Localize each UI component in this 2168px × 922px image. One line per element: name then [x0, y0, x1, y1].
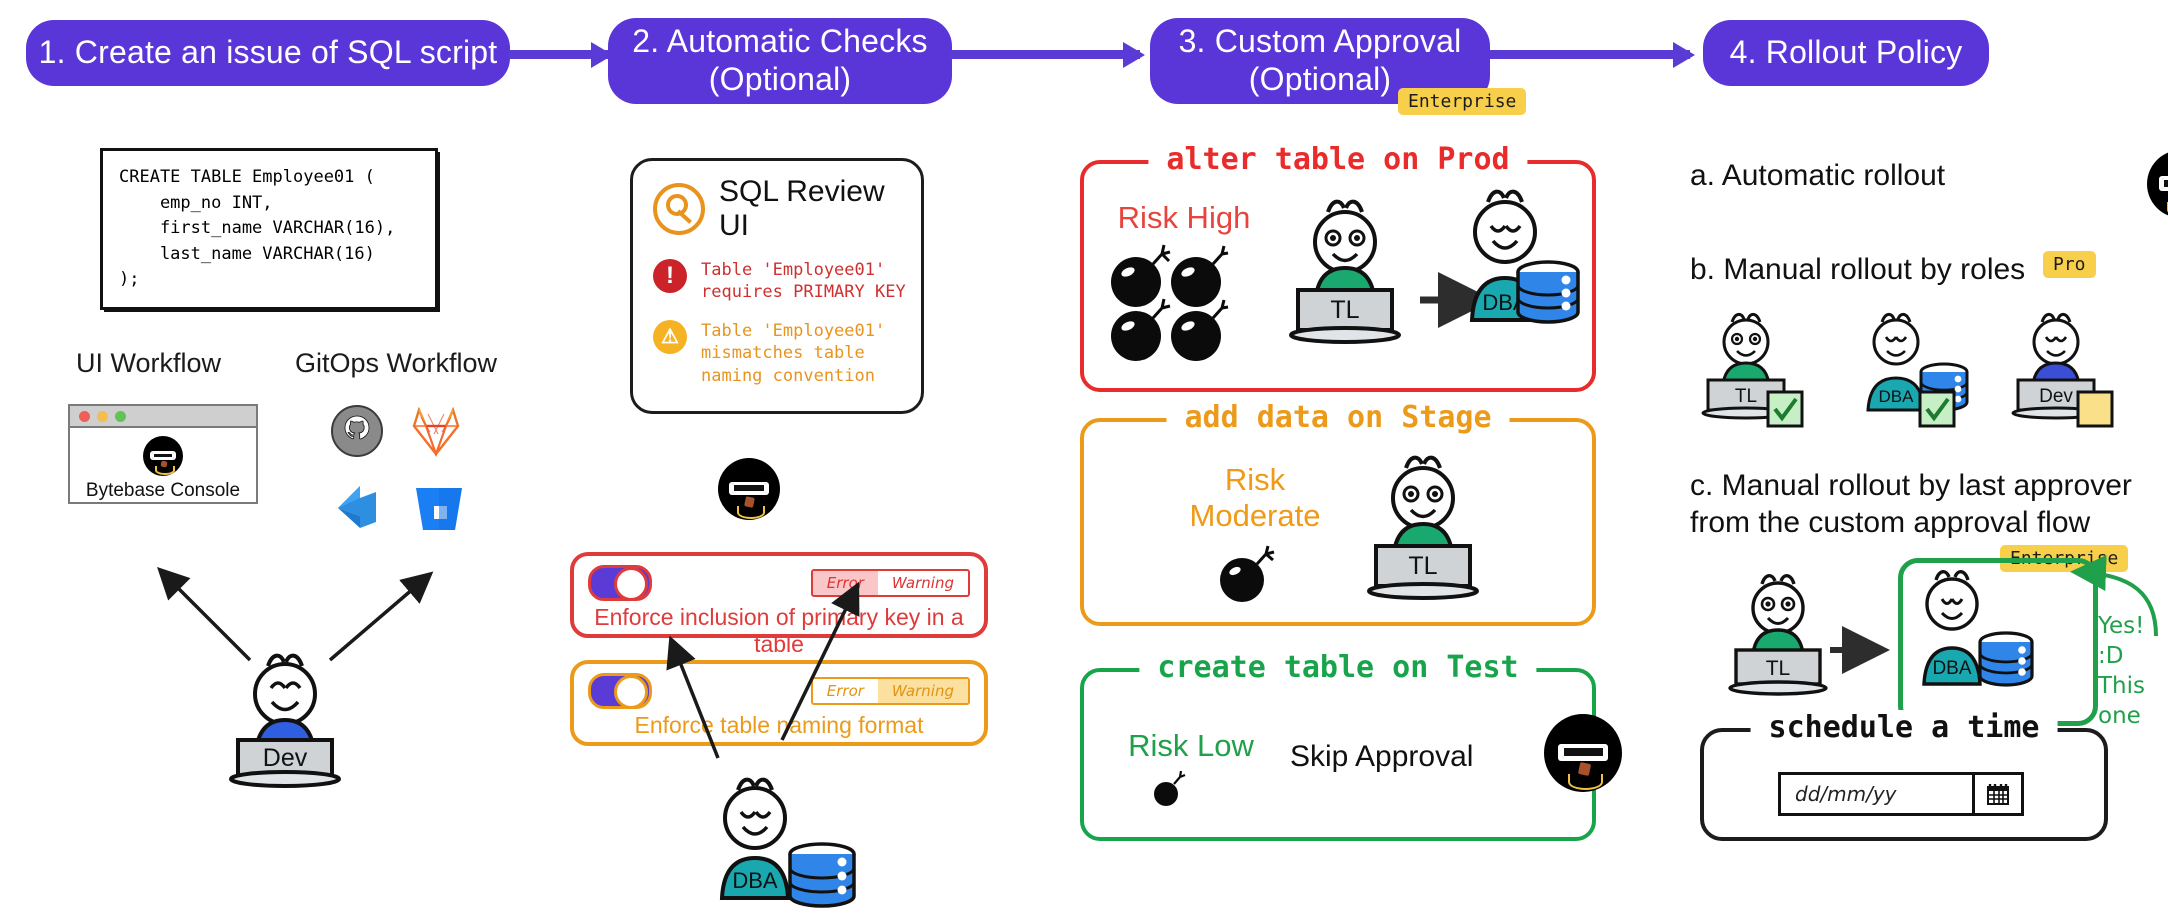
arrow-step1-to-step2: [508, 50, 608, 59]
svg-text:DBA: DBA: [732, 868, 778, 893]
step-2-pill[interactable]: 2. Automatic Checks (Optional): [610, 20, 950, 102]
bomb-stage: [1218, 548, 1278, 604]
schedule-title: schedule a time: [1751, 710, 2058, 745]
step-1-label: 1. Create an issue of SQL script: [39, 34, 498, 72]
svg-text:DBA: DBA: [1879, 387, 1915, 406]
svg-text:TL: TL: [1735, 386, 1757, 407]
warning-icon: ⚠: [653, 320, 687, 354]
last-approver-note: Yes! :D This one: [2098, 612, 2168, 732]
person-dba-prod: DBA: [1396, 188, 1586, 358]
window-titlebar: [70, 406, 256, 428]
rule-toggle-primary-key[interactable]: [588, 565, 652, 601]
review-message-error: ! Table 'Employee01' requires PRIMARY KE…: [633, 249, 921, 304]
step-3-label: 3. Custom Approval: [1179, 23, 1462, 61]
bytebase-avatar-icon-step2: [718, 458, 780, 520]
step-1-pill[interactable]: 1. Create an issue of SQL script: [28, 22, 508, 84]
github-icon[interactable]: [330, 404, 384, 458]
skip-approval-label: Skip Approval: [1290, 740, 1473, 774]
sql-review-title: SQL Review UI: [719, 175, 921, 243]
arrow-tl-to-dba-last-approver: [1828, 638, 1898, 662]
minimize-dot-icon[interactable]: [97, 411, 108, 422]
risk-label-stage: Risk Moderate: [1160, 462, 1350, 533]
calendar-icon[interactable]: [1972, 775, 2021, 813]
step-4-label: 4. Rollout Policy: [1730, 34, 1963, 72]
svg-text:TL: TL: [1766, 657, 1791, 680]
sql-review-card: SQL Review UI ! Table 'Employee01' requi…: [630, 158, 924, 414]
gitops-workflow-title: GitOps Workflow: [295, 348, 497, 379]
svg-text:Dev: Dev: [263, 744, 308, 772]
person-tl-last-approver: TL: [1712, 570, 1842, 710]
step-3-sublabel: (Optional): [1249, 61, 1392, 99]
role-tl: TL: [1703, 314, 1802, 426]
rollout-option-a: a. Automatic rollout: [1690, 158, 1945, 195]
bytebase-console-window[interactable]: Bytebase Console: [68, 404, 258, 504]
arrow-step3-to-step4: [1490, 50, 1690, 59]
window-body: Bytebase Console: [70, 428, 256, 512]
bomb-cluster-prod: [1108, 250, 1228, 360]
maximize-dot-icon[interactable]: [115, 411, 126, 422]
approval-flow-prod-title: alter table on Prod: [1148, 142, 1527, 177]
azure-devops-icon[interactable]: [330, 478, 388, 536]
approval-flow-test-title: create table on Test: [1139, 650, 1536, 685]
step-4-pill[interactable]: 4. Rollout Policy: [1705, 22, 1987, 84]
bomb-test: [1152, 772, 1192, 808]
warning-message-text: Table 'Employee01' mismatches table nami…: [701, 320, 885, 387]
dba-arrows: [660, 580, 910, 780]
browser-caption: Bytebase Console: [86, 480, 240, 502]
bytebase-avatar-icon-auto-rollout: [2147, 150, 2168, 218]
svg-text:Dev: Dev: [2039, 386, 2073, 407]
person-dba-last-approver: DBA: [1906, 568, 2086, 713]
sql-code-box: CREATE TABLE Employee01 ( emp_no INT, fi…: [100, 148, 438, 310]
risk-label-prod: Risk High: [1104, 200, 1264, 236]
diagram-canvas: 1. Create an issue of SQL script 2. Auto…: [0, 0, 2168, 922]
bytebase-avatar-icon: [143, 436, 183, 476]
rollout-option-c: c. Manual rollout by last approver from …: [1690, 468, 2132, 541]
arrow-step2-to-step3: [950, 50, 1140, 59]
magnifier-icon: [653, 183, 705, 235]
review-header: SQL Review UI: [633, 161, 921, 249]
role-dev: Dev: [2013, 314, 2112, 426]
review-message-warning: ⚠ Table 'Employee01' mismatches table na…: [633, 304, 921, 387]
error-message-text: Table 'Employee01' requires PRIMARY KEY: [701, 259, 906, 304]
svg-text:DBA: DBA: [1932, 658, 1971, 679]
rule-toggle-table-naming[interactable]: [588, 673, 652, 709]
ui-workflow-title: UI Workflow: [76, 348, 221, 379]
bitbucket-icon[interactable]: [410, 478, 468, 536]
rollout-option-b-pro-tag: Pro: [2043, 251, 2096, 278]
gitlab-icon[interactable]: [408, 404, 464, 458]
person-dba-step2: DBA: [700, 770, 870, 920]
schedule-date-value[interactable]: dd/mm/yy: [1781, 775, 1972, 813]
svg-text:TL: TL: [1408, 552, 1437, 580]
role-dba: DBA: [1868, 314, 1967, 426]
person-dev: Dev: [210, 640, 360, 790]
bytebase-avatar-icon-test: [1544, 714, 1622, 792]
step-2-label: 2. Automatic Checks: [632, 23, 928, 61]
close-dot-icon[interactable]: [79, 411, 90, 422]
svg-text:TL: TL: [1330, 296, 1359, 324]
step-2-sublabel: (Optional): [709, 61, 852, 99]
schedule-date-input[interactable]: dd/mm/yy: [1778, 772, 2024, 816]
risk-label-test: Risk Low: [1106, 728, 1276, 764]
rollout-option-b: b. Manual rollout by roles: [1690, 252, 2025, 289]
error-icon: !: [653, 259, 687, 293]
roles-approval-row: TL DBA: [1690, 310, 2160, 440]
step-3-enterprise-tag: Enterprise: [1398, 88, 1526, 115]
approval-flow-stage-title: add data on Stage: [1166, 400, 1509, 435]
person-tl-stage: TL: [1348, 452, 1498, 612]
